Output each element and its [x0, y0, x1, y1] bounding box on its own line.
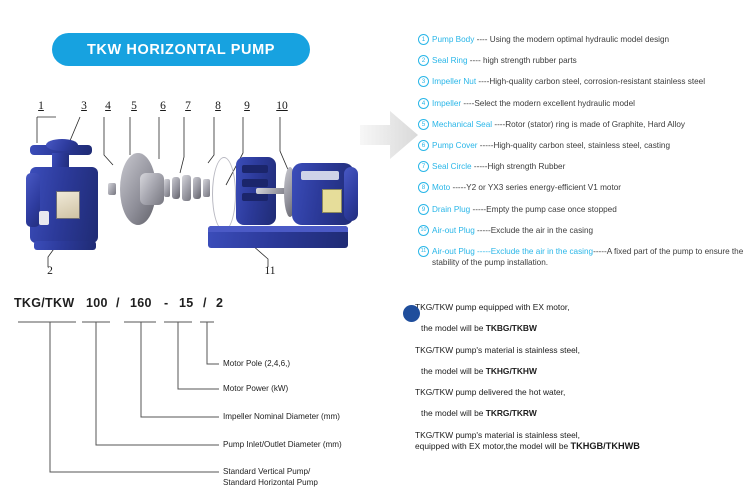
note-text: the model will be [421, 366, 486, 376]
legend-part-desc: High strength Rubber [488, 162, 566, 171]
circled-number-icon: 4 [418, 98, 429, 109]
exploded-pump-diagram: 1 3 4 5 6 7 8 9 10 2 11 [12, 95, 362, 285]
legend-separator: ----- [472, 162, 488, 171]
legend-part-name: Moto [432, 183, 450, 192]
legend-item-9: 9 Drain Plug -----Empty the pump case on… [418, 203, 753, 224]
circled-number-icon: 1 [418, 34, 429, 45]
impeller-hub [140, 173, 164, 205]
motor-terminal-box [301, 171, 339, 180]
legend-part-name: Pump Body [432, 35, 474, 44]
pump-flange-boss [46, 139, 78, 151]
callout-2: 2 [42, 265, 58, 277]
parts-legend-list: 1 Pump Body ---- Using the modern optima… [418, 33, 753, 268]
callout-11: 11 [260, 265, 280, 277]
label-pump-type-line1: Standard Vertical Pump/ [223, 466, 310, 478]
bullet-dot-icon [403, 305, 420, 322]
note-text: TKG/TKW pump delivered the hot water, [415, 387, 565, 397]
legend-part-desc: Rotor (stator) ring is made of Graphite,… [505, 120, 685, 129]
pump-base-foot [34, 241, 96, 250]
model-code-leader-lines [14, 296, 404, 496]
note-line-5: TKG/TKW pump delivered the hot water, [415, 387, 755, 408]
circled-number-icon: 9 [418, 204, 429, 215]
note-model-code: TKHG/TKHW [486, 366, 537, 376]
note-model-code: TKBG/TKBW [486, 323, 537, 333]
note-text: TKG/TKW pump equipped with EX motor, [415, 302, 570, 312]
legend-part-name: Seal Circle [432, 162, 472, 171]
legend-item-10: 10 Air-out Plug -----Exclude the air in … [418, 224, 753, 245]
legend-part-desc: high strength rubber parts [483, 56, 577, 65]
circled-number-icon: 11 [418, 246, 429, 257]
legend-part-name: Impeller [432, 99, 461, 108]
callout-3: 3 [76, 100, 92, 112]
legend-item-4: 4 Impeller ----Select the modern excelle… [418, 97, 753, 118]
legend-part-name: Seal Ring [432, 56, 468, 65]
legend-separator: ---- [476, 77, 489, 86]
seal-circle-oring [212, 157, 236, 231]
pump-suction-flange [26, 173, 40, 227]
legend-item-3: 3 Impeller Nut ----High-quality carbon s… [418, 75, 753, 96]
legend-part-name: Air-out Plug [432, 247, 475, 256]
circled-number-icon: 10 [418, 225, 429, 236]
note-model-code: TKRG/TKRW [486, 408, 537, 418]
note-line-7: TKG/TKW pump's material is stainless ste… [415, 430, 755, 442]
callout-10: 10 [272, 100, 292, 112]
right-arrow-icon [358, 104, 420, 166]
circled-number-icon: 5 [418, 119, 429, 130]
model-variant-notes: TKG/TKW pump equipped with EX motor, the… [415, 302, 755, 453]
seal-ring-a [164, 179, 170, 197]
legend-part-name: Air-out Plug [432, 226, 475, 235]
note-line-2: the model will be TKBG/TKBW [415, 323, 755, 344]
legend-part-desc: Using the modern optimal hydraulic model… [490, 35, 669, 44]
legend-item-2: 2 Seal Ring ---- high strength rubber pa… [418, 54, 753, 75]
model-designation-diagram: TKG/TKW 100 / 160 - 15 / 2 Motor Pol [14, 296, 404, 496]
legend-part-desc: Empty the pump case once stopped [486, 205, 617, 214]
label-pump-type-line2: Standard Horizontal Pump [223, 477, 318, 489]
seal-ring-b [172, 177, 180, 199]
legend-separator: ----- [470, 205, 486, 214]
legend-separator: ---- [474, 35, 489, 44]
seal-ring-e [203, 179, 210, 197]
callout-8: 8 [210, 100, 226, 112]
note-line-3: TKG/TKW pump's material is stainless ste… [415, 345, 755, 366]
legend-part-name: Pump Cover [432, 141, 478, 150]
label-motor-pole: Motor Pole (2,4,6,) [223, 358, 290, 370]
note-text: the model will be [421, 408, 486, 418]
label-impeller-dia: Impeller Nominal Diameter (mm) [223, 411, 340, 423]
seal-ring-d [193, 177, 201, 199]
note-model-code: TKHGB/TKHWB [571, 441, 640, 451]
circled-number-icon: 6 [418, 140, 429, 151]
circled-number-icon: 2 [418, 55, 429, 66]
callout-9: 9 [239, 100, 255, 112]
page-title-banner: TKW HORIZONTAL PUMP [52, 33, 310, 66]
callout-4: 4 [100, 100, 116, 112]
pump-cover-slot-1 [242, 165, 268, 173]
legend-separator: ----- [475, 247, 491, 256]
legend-separator: ----- [450, 183, 466, 192]
note-line-4: the model will be TKHG/TKHW [415, 366, 755, 387]
legend-part-desc: High-quality carbon steel, stainless ste… [493, 141, 670, 150]
page-title: TKW HORIZONTAL PUMP [87, 42, 275, 58]
drain-plug-port [39, 211, 49, 225]
note-line-1: TKG/TKW pump equipped with EX motor, [415, 302, 755, 323]
label-inlet-outlet-dia: Pump Inlet/Outlet Diameter (mm) [223, 439, 342, 451]
pump-nameplate [56, 191, 80, 219]
circled-number-icon: 3 [418, 76, 429, 87]
note-text: equipped with EX motor,the model will be [415, 441, 571, 451]
legend-item-7: 7 Seal Circle -----High strength Rubber [418, 160, 753, 181]
legend-separator: ---- [468, 56, 483, 65]
legend-item-11: 11 Air-out Plug -----Exclude the air in … [418, 245, 753, 268]
note-line-8: equipped with EX motor,the model will be… [415, 441, 755, 453]
legend-separator: ----- [475, 226, 491, 235]
legend-item-6: 6 Pump Cover -----High-quality carbon st… [418, 139, 753, 160]
legend-part-name: Mechanical Seal [432, 120, 492, 129]
note-text: the model will be [421, 323, 486, 333]
legend-item-5: 5 Mechanical Seal ----Rotor (stator) rin… [418, 118, 753, 139]
callout-7: 7 [180, 100, 196, 112]
legend-part-desc: Y2 or YX3 series energy-efficient V1 mot… [466, 183, 621, 192]
callout-1: 1 [33, 100, 49, 112]
note-line-6: the model will be TKRG/TKRW [415, 408, 755, 429]
legend-separator: ---- [492, 120, 505, 129]
label-motor-power: Motor Power (kW) [223, 383, 288, 395]
impeller-nut-part [108, 183, 116, 195]
motor-fan-cover [344, 167, 358, 221]
legend-item-1: 1 Pump Body ---- Using the modern optima… [418, 33, 753, 54]
circled-number-icon: 8 [418, 182, 429, 193]
legend-separator: ---- [461, 99, 474, 108]
legend-part-desc: Exclude the air in the casing [491, 226, 593, 235]
legend-separator: ----- [478, 141, 494, 150]
pump-cover-slot-3 [242, 193, 268, 201]
legend-part-desc: High-quality carbon steel, corrosion-res… [489, 77, 705, 86]
note-text: TKG/TKW pump's material is stainless ste… [415, 345, 580, 355]
motor-nameplate [322, 189, 342, 213]
legend-part-desc-cyan: Exclude the air in the casing [491, 247, 593, 256]
legend-part-desc: Select the modern excellent hydraulic mo… [474, 99, 635, 108]
seal-ring-c [182, 175, 191, 201]
pump-cover-slot-2 [242, 179, 268, 187]
note-text: TKG/TKW pump's material is stainless ste… [415, 430, 580, 440]
legend-part-name: Drain Plug [432, 205, 470, 214]
callout-6: 6 [155, 100, 171, 112]
legend-item-8: 8 Moto -----Y2 or YX3 series energy-effi… [418, 181, 753, 202]
callout-5: 5 [126, 100, 142, 112]
base-plate-top [208, 226, 348, 232]
circled-number-icon: 7 [418, 161, 429, 172]
legend-part-name: Impeller Nut [432, 77, 476, 86]
